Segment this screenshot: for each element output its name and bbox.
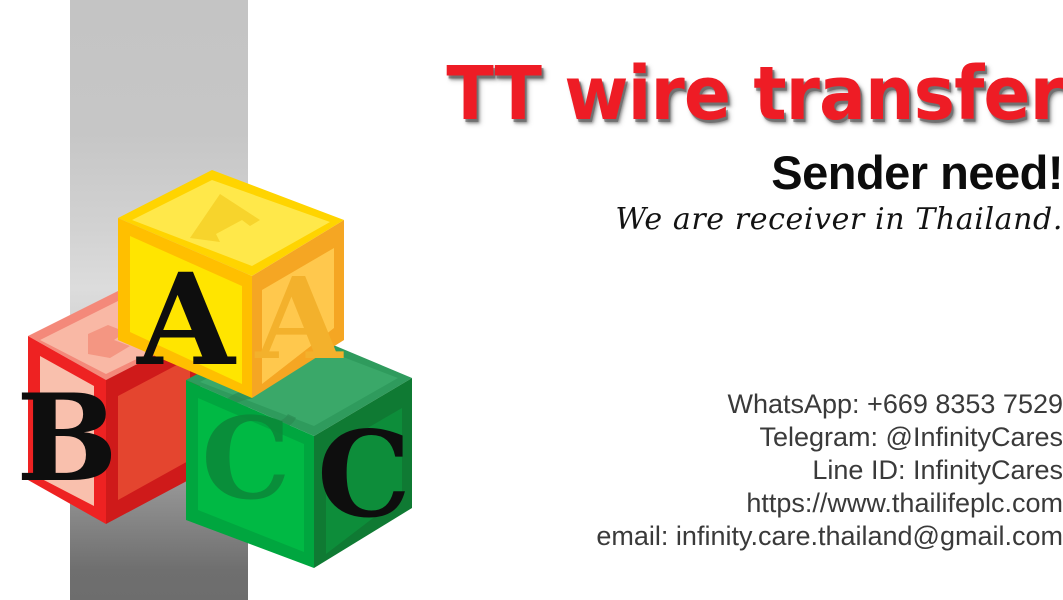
contact-line-line-id: Line ID: InfinityCares [363,454,1063,487]
block-a: A A [118,170,345,398]
contact-line-telegram: Telegram: @InfinityCares [363,421,1063,454]
svg-text:C: C [201,394,290,525]
headline-title: TT wire transfer [405,57,1063,131]
contact-line-whatsapp: WhatsApp: +669 8353 7529 [363,388,1063,421]
svg-text:B: B [16,368,117,509]
subheadline: Sender need! [363,149,1063,196]
svg-text:A: A [136,246,237,394]
promo-banner: B C C [0,0,1063,600]
contact-line-email[interactable]: email: infinity.care.thailand@gmail.com [363,520,1063,553]
svg-text:A: A [255,254,345,385]
tagline-script: We are receiver in Thailand. [363,203,1063,238]
contact-line-website[interactable]: https://www.thailifeplc.com [363,487,1063,520]
contact-block: WhatsApp: +669 8353 7529 Telegram: @Infi… [363,388,1063,553]
